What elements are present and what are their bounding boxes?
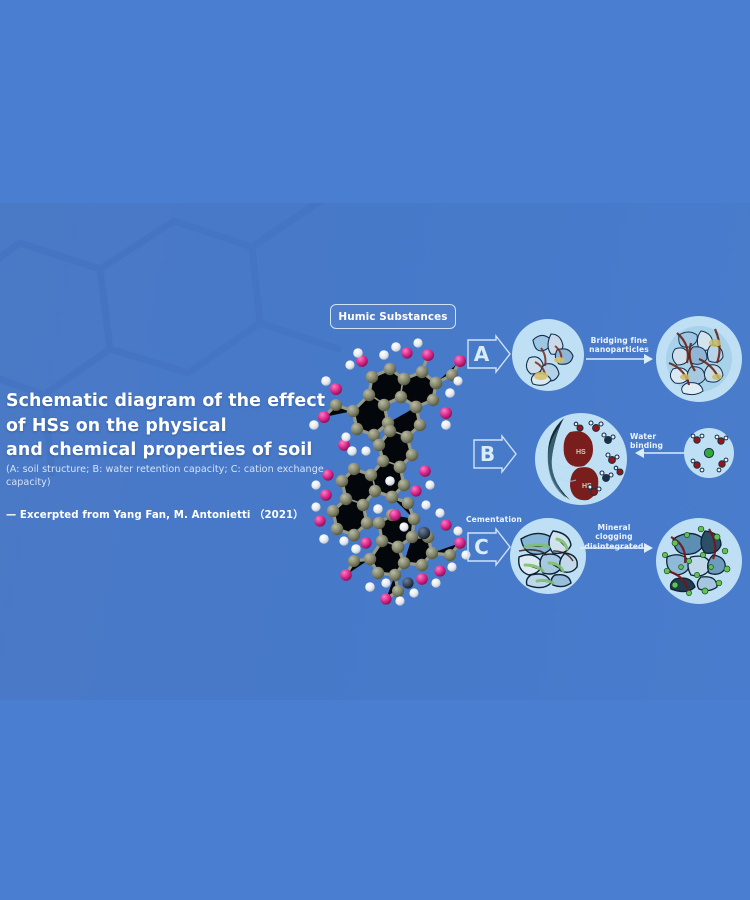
arrow-right-bridging-icon bbox=[586, 352, 654, 366]
arrow-left-water-binding-icon bbox=[634, 446, 684, 460]
title-line-2: of HSs on the physical bbox=[6, 414, 336, 439]
water-retention-circle: HSHS bbox=[534, 412, 628, 506]
soil-aggregate-before-circle bbox=[511, 318, 585, 392]
marker-a-letter: A bbox=[466, 334, 497, 374]
page-subtitle: (A: soil structure; B: water retention c… bbox=[6, 463, 346, 489]
marker-c: C bbox=[466, 527, 512, 567]
cemented-minerals-circle bbox=[509, 517, 587, 595]
soil-aggregate-after-circle bbox=[655, 315, 743, 403]
marker-b-letter: B bbox=[472, 434, 503, 474]
page-title: Schematic diagram of the effect of HSs o… bbox=[6, 389, 336, 463]
arrow-right-mineral-clogging-icon bbox=[580, 541, 654, 555]
marker-c-letter: C bbox=[466, 527, 497, 567]
flow-label-cementation: Cementation bbox=[466, 515, 526, 524]
disintegrated-minerals-circle bbox=[655, 517, 743, 605]
marker-a: A bbox=[466, 334, 512, 374]
hydrated-cation-circle bbox=[683, 427, 735, 479]
flow-label-bridging-line1: Bridging fine bbox=[586, 336, 652, 345]
svg-text:HS: HS bbox=[576, 449, 586, 456]
slide-canvas: Schematic diagram of the effect of HSs o… bbox=[0, 0, 750, 900]
humic-substance-molecule bbox=[300, 325, 480, 610]
title-line-3: and chemical properties of soil bbox=[6, 438, 336, 463]
title-line-1: Schematic diagram of the effect bbox=[6, 389, 336, 414]
flow-label-mineral-clogging-line1: Mineral clogging bbox=[578, 523, 650, 542]
citation-text: — Excerpted from Yang Fan, M. Antonietti… bbox=[6, 506, 336, 521]
marker-b: B bbox=[472, 434, 518, 474]
flow-label-cementation-line1: Cementation bbox=[466, 515, 526, 524]
